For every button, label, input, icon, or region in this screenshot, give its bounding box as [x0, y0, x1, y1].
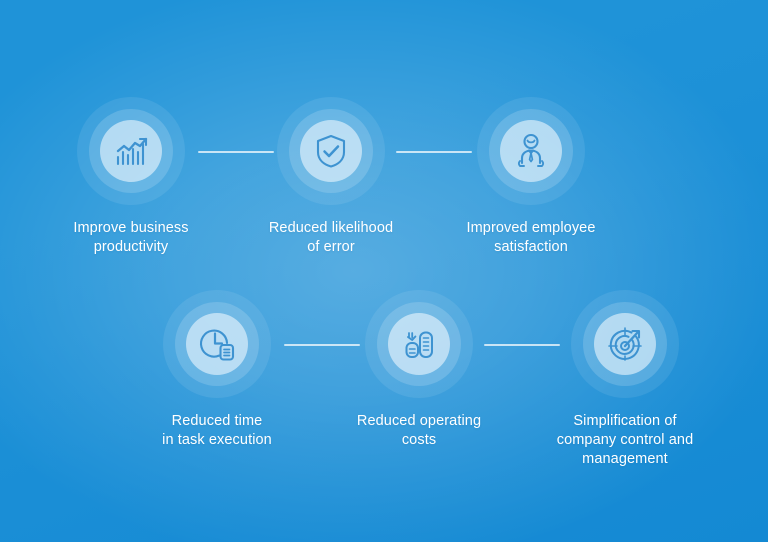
target-dartboard-arrow-icon [605, 324, 645, 364]
coin-stacks-down-arrow-icon [399, 324, 439, 364]
shield-check-icon [311, 131, 351, 171]
infographic-canvas: Improve business productivity Reduced li… [0, 0, 768, 542]
bar-chart-growth-arrow-icon [111, 131, 151, 171]
badge-improved-employee-satisfaction [477, 97, 585, 205]
node-caption: Reduced time in task execution [117, 412, 317, 450]
node-reduced-time-in-task-execution[interactable]: Reduced time in task execution [117, 290, 317, 450]
node-improve-business-productivity[interactable]: Improve business productivity [31, 97, 231, 257]
employee-smiling-person-tie-icon [511, 131, 551, 171]
clock-document-icon [197, 324, 237, 364]
badge-reduced-operating-costs [365, 290, 473, 398]
node-caption: Improve business productivity [31, 219, 231, 257]
node-improved-employee-satisfaction[interactable]: Improved employee satisfaction [431, 97, 631, 257]
node-caption: Reduced likelihood of error [231, 219, 431, 257]
node-reduced-likelihood-of-error[interactable]: Reduced likelihood of error [231, 97, 431, 257]
badge-reduced-likelihood-of-error [277, 97, 385, 205]
node-caption: Simplification of company control and ma… [525, 412, 725, 469]
node-simplification-of-company-control-and-management[interactable]: Simplification of company control and ma… [525, 290, 725, 469]
node-caption: Improved employee satisfaction [431, 219, 631, 257]
node-reduced-operating-costs[interactable]: Reduced operating costs [319, 290, 519, 450]
badge-improve-business-productivity [77, 97, 185, 205]
badge-simplification-of-company-control-and-management [571, 290, 679, 398]
badge-reduced-time-in-task-execution [163, 290, 271, 398]
node-caption: Reduced operating costs [319, 412, 519, 450]
